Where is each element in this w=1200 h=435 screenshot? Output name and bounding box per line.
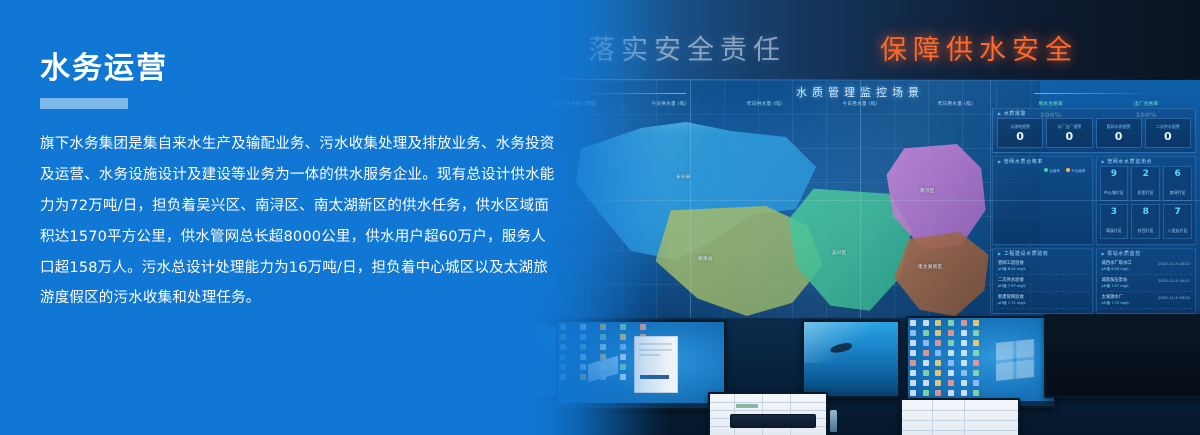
kpi-item: 昨日用水量 (吨): [908, 102, 1003, 109]
kpi-item: 今日用水量 (吨): [812, 102, 907, 109]
taskbar[interactable]: [558, 403, 724, 408]
row-title: 管网工程验收: [998, 260, 1087, 266]
table-row: 城西水厂取水口 pH值 8.04 mg/L 2022-11-9 18:22: [1100, 258, 1193, 275]
alarm-value: 0: [1115, 131, 1123, 142]
diver-silhouette: [830, 342, 853, 354]
site-label: 八里店片区: [1168, 228, 1188, 233]
site-label: 织里片区: [1138, 190, 1154, 195]
dashboard-map: 长兴县 德清县 吴兴区 南浔区 南太湖新区: [580, 114, 980, 314]
row-text: 新建管网验收 pH值 7.72 mg/L: [998, 294, 1087, 306]
site-label: 中心城片区: [1104, 190, 1124, 195]
panel-header: 工程建设水质验收: [998, 250, 1049, 257]
pump-station-log-panel: 泵站水质监控 城西水厂取水口 pH值 8.04 mg/L 2022-11-9 1…: [1096, 248, 1197, 315]
cell-highlight: [736, 404, 758, 408]
row-metrics: pH值 8.04 mg/L: [998, 267, 1087, 272]
site-value: 3: [1101, 208, 1128, 217]
water-bottle: [830, 410, 837, 432]
row-timestamp: 2022-11-9 18:22: [1158, 260, 1190, 266]
panel-header: 泵站水质监控: [1102, 250, 1141, 257]
desktop-icon-grid[interactable]: [910, 320, 984, 402]
kpi-item: 今日供水量 (吨): [621, 102, 716, 109]
site-cell: 8 妙西片区: [1131, 204, 1160, 239]
site-cell: 2 织里片区: [1131, 166, 1160, 201]
center-monitor-screen: [558, 322, 724, 408]
site-cell: 6 南浔片区: [1163, 166, 1192, 201]
right-monitor: [906, 316, 1056, 408]
underwater-monitor-screen: [804, 322, 898, 396]
row-metrics: pH值 7.97 mg/L: [998, 284, 1087, 289]
kpi-label: 昨日用水量 (吨): [938, 102, 973, 107]
slogan-left: 落实安全责任: [588, 28, 786, 67]
alarm-value: 0: [1164, 131, 1172, 142]
kpi-label: 制水合格率: [1039, 102, 1063, 107]
far-right-monitor: [1044, 314, 1200, 398]
site-cell: 7 八里店片区: [1163, 204, 1192, 239]
site-label: 南浔片区: [1170, 190, 1186, 195]
sites-grid: 9 中心城片区 2 织里片区 6 南浔片区 3 埭溪片区: [1100, 166, 1193, 239]
mid-panel-row: 管网水质合格率 合格率 不合格率 管网水水质监测点 9 中心城片区: [992, 156, 1196, 245]
alarm-card: 水源地报警 0: [997, 118, 1043, 148]
row-text: 城西水厂取水口 pH值 8.04 mg/L: [1102, 260, 1156, 272]
row-text: 二次供水验收 pH值 7.97 mg/L: [998, 277, 1087, 289]
row-metrics: pH值 7.97 mg/L: [1102, 284, 1156, 289]
intro-paragraph: 旗下水务集团是集自来水生产及输配业务、污水收集处理及排放业务、水务投资及运营、水…: [40, 129, 560, 314]
secondary-laptop: [900, 398, 1020, 435]
row-metrics: pH值 7.72 mg/L: [1102, 301, 1156, 306]
dashboard-panels: 水质报警 水源地报警 0 水厂出厂报警 0 管网水质报警 0: [992, 108, 1196, 314]
bottom-panel-row: 工程建设水质验收 管网工程验收 pH值 8.04 mg/L 二次供水验收 pH值…: [992, 248, 1196, 315]
slogan-banner: 落实安全责任 保障供水安全: [520, 0, 1200, 82]
site-label: 妙西片区: [1138, 228, 1154, 233]
site-value: 9: [1101, 170, 1128, 179]
row-text: 管网工程验收 pH值 8.04 mg/L: [998, 260, 1087, 272]
panel-header: 水质报警: [998, 110, 1026, 117]
site-cell: 9 中心城片区: [1100, 166, 1129, 201]
underwater-monitor: [802, 320, 900, 398]
legend-entry: 不合格率: [1066, 169, 1085, 173]
alarm-card: 管网水质报警 0: [1096, 118, 1142, 148]
row-text: 城南加压泵站 pH值 7.97 mg/L: [1102, 277, 1156, 289]
panel-header: 管网水水质监测点: [1102, 158, 1153, 165]
alarm-card: 二次供水报警 0: [1145, 118, 1191, 148]
row-title: 城南加压泵站: [1102, 277, 1156, 283]
list-item: 二次供水验收 pH值 7.97 mg/L: [996, 275, 1089, 292]
list-item: 新建管网验收 pH值 7.72 mg/L: [996, 292, 1089, 309]
row-metrics: pH值 7.72 mg/L: [998, 301, 1087, 306]
operator-desk: [520, 318, 1200, 435]
monitoring-sites-panel: 管网水水质监测点 9 中心城片区 2 织里片区 6 南浔片区: [1096, 156, 1197, 245]
row-title: 新建管网验收: [998, 294, 1087, 300]
legend-entry: 合格率: [1044, 169, 1060, 173]
site-value: 8: [1132, 208, 1159, 217]
control-room-photo: 落实安全责任 保障供水安全 长兴县 德清县 吴兴区 南浔区 南太湖新区 水质管理…: [520, 0, 1200, 435]
alarm-value: 0: [1066, 131, 1074, 142]
panel-header: 管网水质合格率: [998, 158, 1043, 165]
right-monitor-screen: [908, 318, 1054, 406]
kpi-label: 昨日供水量 (吨): [747, 102, 782, 107]
page-title: 水务运营: [40, 52, 560, 85]
chart-legend: 合格率 不合格率: [1039, 168, 1085, 174]
site-value: 7: [1164, 208, 1191, 217]
list-item: 管网工程验收 pH值 8.04 mg/L: [996, 258, 1089, 275]
intro-panel: 水务运营 旗下水务集团是集自来水生产及输配业务、污水收集处理及排放业务、水务投资…: [0, 0, 560, 435]
row-timestamp: 2022-11-9 18:20: [1158, 294, 1190, 300]
kpi-label: 今日供水量 (吨): [651, 102, 686, 107]
row-title: 太湖源水厂: [1102, 294, 1156, 300]
document-window[interactable]: [634, 336, 677, 393]
alarm-row: 水源地报警 0 水厂出厂报警 0 管网水质报警 0 二次供水报警: [997, 118, 1191, 148]
far-right-monitor-screen: [1046, 316, 1200, 396]
legend-dot-icon: [1066, 168, 1070, 172]
alarm-card: 水厂出厂报警 0: [1046, 118, 1092, 148]
kpi-label: 今日用水量 (吨): [842, 102, 877, 107]
table-row: 太湖源水厂 pH值 7.72 mg/L 2022-11-9 18:20: [1100, 292, 1193, 309]
row-title: 城西水厂取水口: [1102, 260, 1156, 266]
dashboard-title: 水质管理监控场景: [520, 84, 1200, 100]
row-timestamp: 2022-11-9 18:21: [1158, 277, 1190, 283]
legend-dot-icon: [1044, 168, 1048, 172]
row-title: 二次供水验收: [998, 277, 1087, 283]
kpi-label: 出厂合格率: [1134, 102, 1158, 107]
alarm-value: 0: [1016, 131, 1024, 142]
water-quality-alarm-panel: 水质报警 水源地报警 0 水厂出厂报警 0 管网水质报警 0: [992, 108, 1196, 153]
qualified-rate-panel: 管网水质合格率 合格率 不合格率: [992, 156, 1093, 245]
row-text: 太湖源水厂 pH值 7.72 mg/L: [1102, 294, 1156, 306]
secondary-laptop-screen: [902, 400, 1018, 435]
title-underline: [40, 98, 128, 109]
site-label: 埭溪片区: [1106, 228, 1122, 233]
construction-acceptance-panel: 工程建设水质验收 管网工程验收 pH值 8.04 mg/L 二次供水验收 pH值…: [992, 248, 1093, 315]
windows-logo-icon: [996, 339, 1034, 381]
kpi-item: 昨日供水量 (吨): [717, 102, 812, 109]
slogan-right: 保障供水安全: [880, 28, 1078, 67]
table-row: 城南加压泵站 pH值 7.97 mg/L 2022-11-9 18:21: [1100, 275, 1193, 292]
keyboard[interactable]: [730, 414, 816, 428]
row-metrics: pH值 8.04 mg/L: [1102, 267, 1156, 272]
site-cell: 3 埭溪片区: [1100, 204, 1129, 239]
water-operations-banner: 落实安全责任 保障供水安全 长兴县 德清县 吴兴区 南浔区 南太湖新区 水质管理…: [0, 0, 1200, 435]
center-monitor: [556, 320, 726, 410]
video-wall: 长兴县 德清县 吴兴区 南浔区 南太湖新区 水质管理监控场景 年累计供水量 (万…: [520, 80, 1200, 318]
site-value: 6: [1164, 170, 1191, 179]
site-value: 2: [1132, 170, 1159, 179]
